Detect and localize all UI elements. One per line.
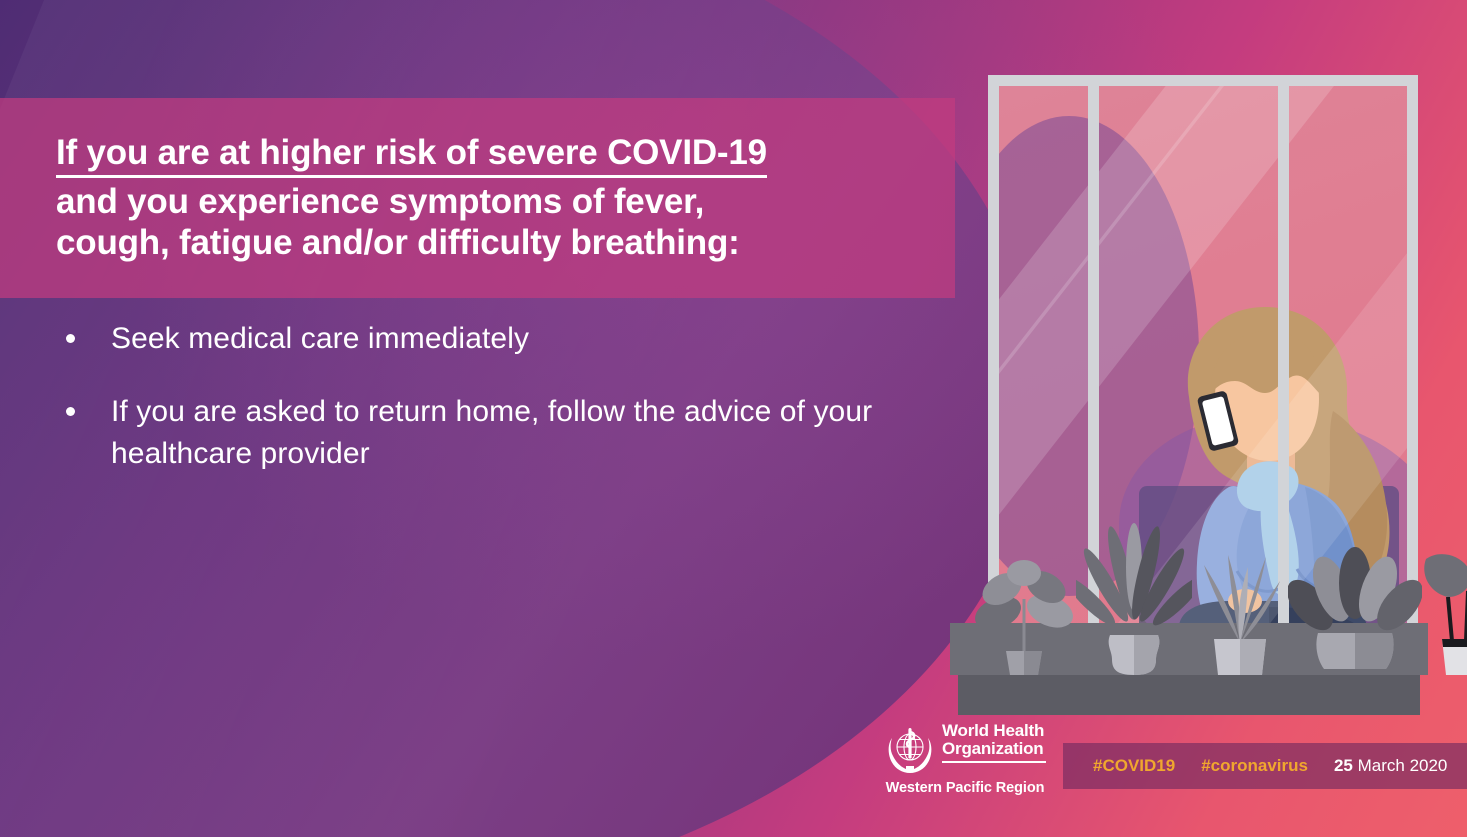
headline-banner: If you are at higher risk of severe COVI… <box>0 98 955 298</box>
who-emblem-icon <box>884 724 936 776</box>
potted-plant <box>1076 523 1192 675</box>
headline-line-2: and you experience symptoms of fever, <box>56 182 955 223</box>
potted-plant <box>1412 535 1467 675</box>
meta-bar: #COVID19 #coronavirus 25 March 2020 <box>1063 743 1467 789</box>
who-word-line-2: Organization <box>942 740 1046 758</box>
potted-plant <box>1196 547 1284 675</box>
headline-line-1: If you are at higher risk of severe COVI… <box>56 133 767 179</box>
bullet-text: Seek medical care immediately <box>111 318 529 361</box>
window-ledge <box>950 623 1428 715</box>
list-item: Seek medical care immediately <box>56 318 936 361</box>
date-day: 25 <box>1334 756 1353 775</box>
bullet-dot-icon <box>66 334 75 343</box>
publication-date: 25 March 2020 <box>1334 756 1447 776</box>
bullet-text: If you are asked to return home, follow … <box>111 391 936 476</box>
who-logo: World Health Organization Western Pacifi… <box>884 722 1044 800</box>
date-rest: March 2020 <box>1353 756 1448 775</box>
hashtag-covid19[interactable]: #COVID19 <box>1093 756 1175 776</box>
potted-plant <box>972 555 1076 675</box>
potted-plant <box>1288 543 1422 675</box>
who-word-line-1: World Health <box>942 722 1046 740</box>
bullet-dot-icon <box>66 407 75 416</box>
advice-bullet-list: Seek medical care immediately If you are… <box>56 318 936 506</box>
poster-canvas: If you are at higher risk of severe COVI… <box>0 0 1467 837</box>
who-divider <box>942 761 1046 763</box>
list-item: If you are asked to return home, follow … <box>56 391 936 476</box>
who-region-label: Western Pacific Region <box>884 780 1046 796</box>
headline-line-3: cough, fatigue and/or difficulty breathi… <box>56 223 955 264</box>
illustration-window-scene <box>940 55 1440 725</box>
hashtag-coronavirus[interactable]: #coronavirus <box>1201 756 1308 776</box>
ledge-front-face <box>958 675 1420 715</box>
who-wordmark: World Health Organization <box>942 722 1046 765</box>
